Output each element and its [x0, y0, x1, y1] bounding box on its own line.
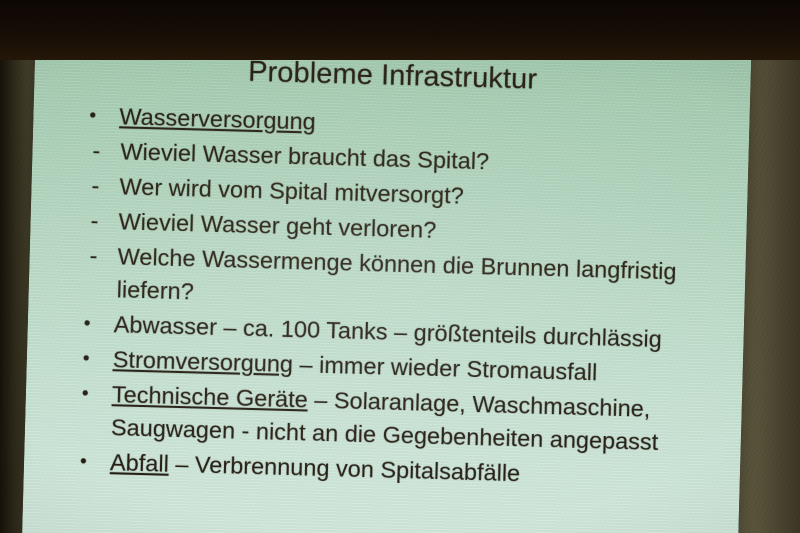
- bullet-icon: •: [80, 445, 103, 479]
- list-item-keyword: Stromversorgung: [113, 346, 294, 377]
- room-wall-top: [0, 0, 800, 60]
- dash-icon: -: [90, 205, 113, 239]
- list-item-label: Wer wird vom Spital mitversorgt?: [119, 173, 464, 208]
- dash-icon: -: [92, 135, 115, 169]
- list-item-label: Welche Wassermenge können die Brunnen la…: [116, 243, 676, 304]
- slide-content: Probleme Infrastruktur •Wasserversorgung…: [22, 20, 752, 533]
- dash-icon: -: [91, 170, 114, 204]
- list-item-label: Wieviel Wasser geht verloren?: [118, 208, 436, 243]
- dash-icon: -: [89, 240, 112, 274]
- list-item-keyword: Wasserversorgung: [119, 103, 316, 134]
- list-item-keyword: Technische Geräte: [112, 381, 309, 412]
- projected-slide-photo: Probleme Infrastruktur •Wasserversorgung…: [0, 0, 800, 533]
- bullet-icon: •: [82, 342, 105, 376]
- bullet-icon: •: [83, 307, 106, 341]
- list-item-label: – Verbrennung von Spitalsabfälle: [168, 451, 520, 486]
- list-item-label: – immer wieder Stromausfall: [293, 351, 598, 385]
- bullet-icon: •: [89, 99, 112, 133]
- projection-screen: Probleme Infrastruktur •Wasserversorgung…: [22, 20, 752, 533]
- bullet-list: •Wasserversorgung-Wieviel Wasser braucht…: [80, 99, 740, 497]
- list-item-label: Wieviel Wasser braucht das Spital?: [120, 138, 489, 174]
- bullet-icon: •: [81, 377, 104, 411]
- list-item-keyword: Abfall: [110, 449, 169, 477]
